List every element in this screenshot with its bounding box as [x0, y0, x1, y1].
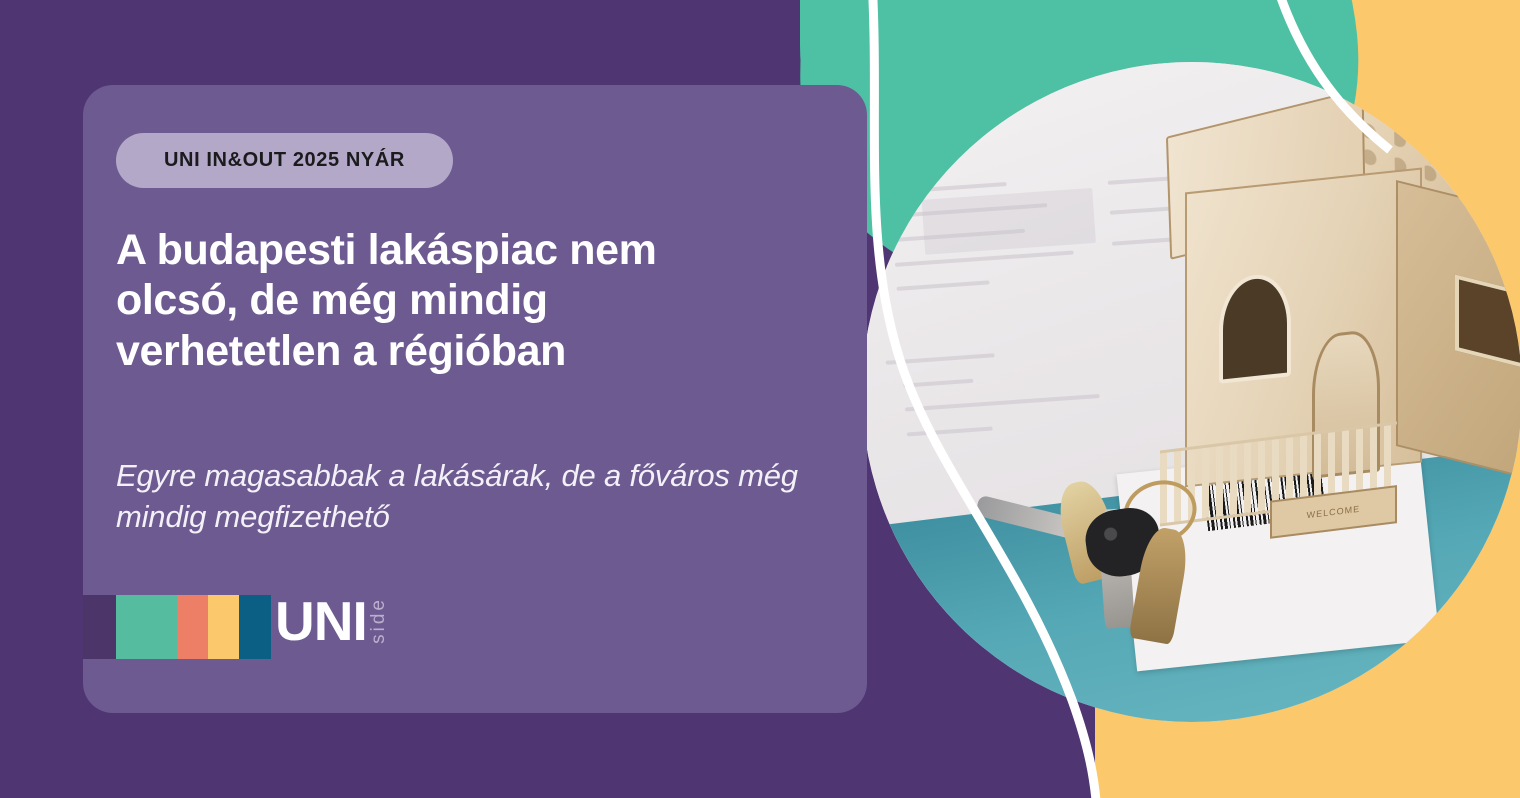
category-badge: UNI IN&OUT 2025 NYÁR [116, 133, 453, 188]
content-card: UNI IN&OUT 2025 NYÁR A budapesti lakáspi… [83, 85, 867, 713]
hero-photo-circle: WELCOME [862, 62, 1520, 722]
logo-wordmark-group: UNI side [275, 595, 388, 669]
logo-bar-coral [177, 595, 208, 659]
logo-suffix: side [369, 597, 388, 644]
logo-bar-dark-purple [83, 595, 116, 659]
logo-color-bars [83, 595, 271, 659]
logo-bar-teal [116, 595, 177, 659]
logo-wordmark: UNI [275, 595, 367, 649]
logo-bar-blue [239, 595, 271, 659]
banner-root: WELCOME UNI IN&OUT 2025 NYÁR A budapesti… [0, 0, 1520, 798]
photo-content: WELCOME [862, 62, 1520, 722]
house-keys [968, 471, 1338, 709]
page-subtitle: Egyre magasabbak a lakásárak, de a fővár… [116, 455, 826, 537]
logo-bar-yellow [208, 595, 239, 659]
uniside-logo[interactable]: UNI side [83, 595, 388, 669]
page-title: A budapesti lakáspiac nem olcsó, de még … [116, 225, 776, 376]
